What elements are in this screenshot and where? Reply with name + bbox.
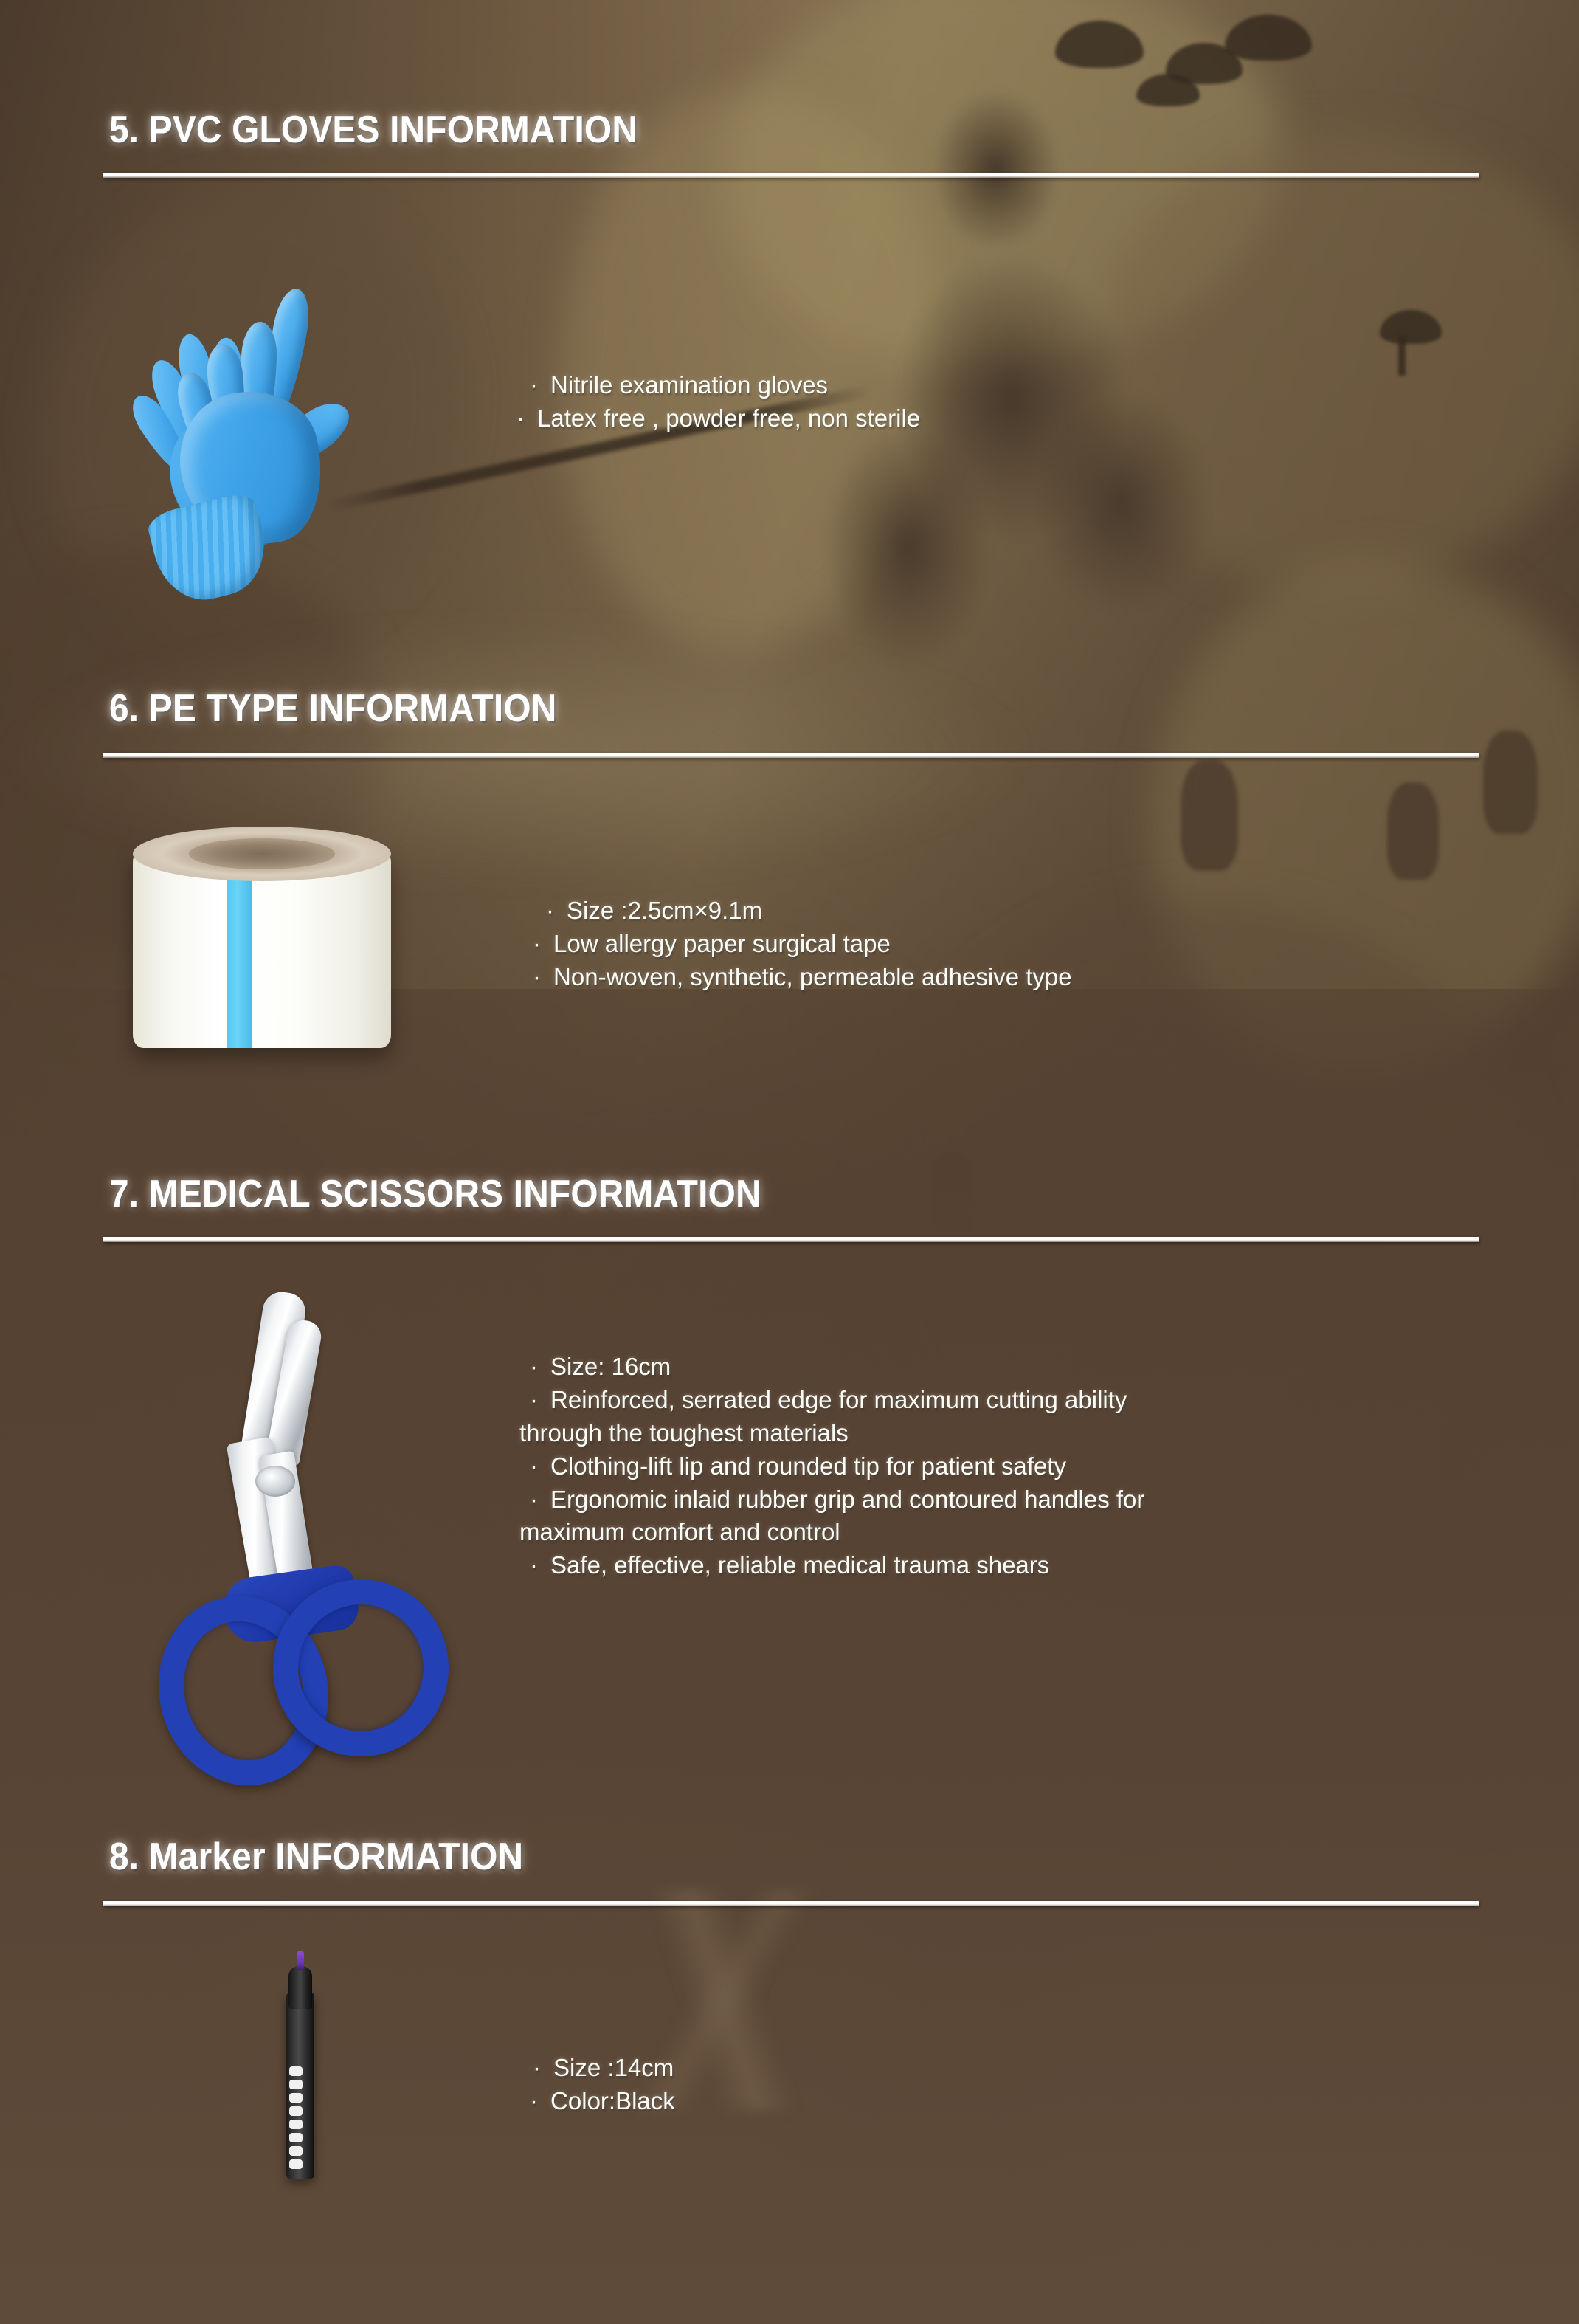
surgical-tape-roll-image (118, 819, 413, 1077)
section-title-marker: 8. Marker INFORMATION (109, 1835, 559, 1879)
bullet-list-marker: ·Size :14cm ·Color:Black (533, 2052, 675, 2118)
list-item: ·Ergonomic inlaid rubber grip and contou… (530, 1483, 1144, 1517)
list-item: ·Color:Black (530, 2085, 675, 2118)
nitrile-gloves-image (111, 280, 421, 590)
section-title-medical-scissors: 7. MEDICAL SCISSORS INFORMATION (109, 1172, 818, 1216)
bullet-dot-icon: · (530, 1483, 550, 1517)
section-divider (103, 173, 1479, 178)
section-divider (103, 1237, 1479, 1242)
bullet-dot-icon: · (530, 369, 550, 402)
list-item: ·Latex free , powder free, non sterile (516, 402, 920, 435)
section-title-pe-type: 6. PE TYPE INFORMATION (109, 686, 595, 731)
list-item-continuation: through the toughest materials (519, 1417, 1144, 1450)
list-item: ·Safe, effective, reliable medical traum… (530, 1549, 1144, 1582)
list-item: ·Low allergy paper surgical tape (533, 928, 1072, 961)
bullet-dot-icon: · (530, 1549, 550, 1582)
bullet-dot-icon: · (516, 402, 537, 435)
section-divider (103, 753, 1479, 758)
list-item-continuation: maximum comfort and control (519, 1516, 1144, 1549)
bullet-dot-icon: · (533, 961, 553, 994)
page-title: 5. PVC GLOVES INFORMATION (109, 108, 638, 152)
product-info-sheet: 5. PVC GLOVES INFORMATION ·Nitrile exami… (0, 0, 1579, 2324)
tape-core (189, 838, 335, 869)
bullet-dot-icon: · (533, 928, 553, 961)
trauma-shears-image (148, 1284, 428, 1771)
bullet-list-pvc-gloves: ·Nitrile examination gloves ·Latex free … (530, 369, 920, 435)
bullet-dot-icon: · (546, 894, 567, 928)
bullet-dot-icon: · (530, 1450, 550, 1483)
bullet-dot-icon: · (530, 1384, 550, 1417)
list-item: ·Clothing-lift lip and rounded tip for p… (530, 1450, 1144, 1483)
section-title-pvc-gloves: 5. PVC GLOVES INFORMATION (109, 108, 683, 152)
list-item: ·Nitrile examination gloves (530, 369, 920, 402)
bullet-dot-icon: · (530, 1351, 550, 1384)
marker-tip (297, 1951, 304, 1970)
section-divider (103, 1901, 1479, 1906)
list-item: ·Size :14cm (533, 2052, 675, 2085)
bullet-list-pe-type: ·Size :2.5cm×9.1m ·Low allergy paper sur… (546, 894, 1072, 994)
bullet-dot-icon: · (533, 2052, 553, 2085)
tape-blue-stripe (227, 862, 252, 1048)
list-item: ·Size :2.5cm×9.1m (546, 894, 1072, 928)
black-marker-pen-image (274, 1941, 326, 2177)
list-item: ·Non-woven, synthetic, permeable adhesiv… (533, 961, 1072, 994)
bullet-dot-icon: · (530, 2085, 550, 2118)
list-item: ·Reinforced, serrated edge for maximum c… (530, 1384, 1144, 1417)
bullet-list-medical-scissors: ·Size: 16cm ·Reinforced, serrated edge f… (530, 1351, 1144, 1582)
shears-pivot-screw (255, 1466, 295, 1497)
list-item: ·Size: 16cm (530, 1351, 1144, 1384)
